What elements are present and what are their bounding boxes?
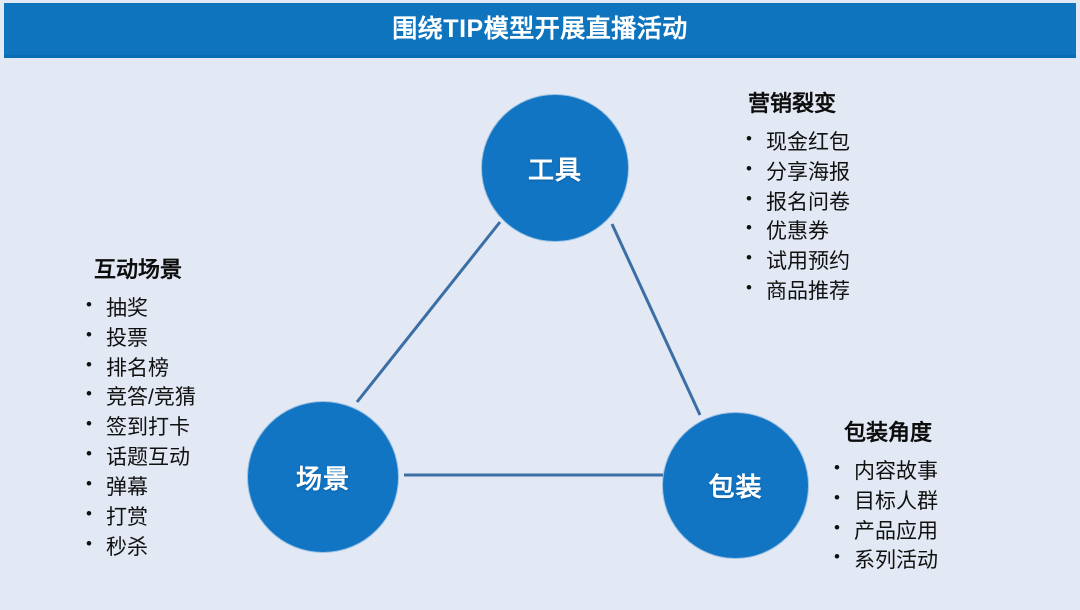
node-package-label: 包装	[708, 467, 762, 504]
list-item: 现金红包	[744, 128, 850, 158]
list-item: 投票	[84, 324, 196, 354]
block-interaction-heading: 互动场景	[84, 252, 196, 284]
slide-canvas: 围绕TIP模型开展直播活动 工具 场景 包装 互动场景 抽奖 投票 排名榜 竞答…	[0, 0, 1080, 610]
block-marketing-list: 现金红包 分享海报 报名问卷 优惠券 试用预约 商品推荐	[744, 128, 850, 307]
block-marketing: 营销裂变 现金红包 分享海报 报名问卷 优惠券 试用预约 商品推荐	[744, 86, 850, 307]
node-package[interactable]: 包装	[663, 413, 808, 558]
block-packaging: 包装角度 内容故事 目标人群 产品应用 系列活动	[832, 415, 938, 576]
list-item: 打赏	[84, 503, 196, 533]
block-interaction: 互动场景 抽奖 投票 排名榜 竞答/竞猜 签到打卡 话题互动 弹幕 打赏 秒杀	[84, 252, 196, 562]
list-item: 系列活动	[832, 546, 938, 576]
list-item: 优惠券	[744, 217, 850, 247]
list-item: 内容故事	[832, 457, 938, 487]
list-item: 目标人群	[832, 487, 938, 517]
list-item: 签到打卡	[84, 413, 196, 443]
block-packaging-heading: 包装角度	[832, 415, 938, 447]
header-bar: 围绕TIP模型开展直播活动	[4, 3, 1076, 58]
list-item: 商品推荐	[744, 277, 850, 307]
block-packaging-list: 内容故事 目标人群 产品应用 系列活动	[832, 457, 938, 576]
list-item: 竞答/竞猜	[84, 383, 196, 413]
block-interaction-list: 抽奖 投票 排名榜 竞答/竞猜 签到打卡 话题互动 弹幕 打赏 秒杀	[84, 294, 196, 562]
list-item: 试用预约	[744, 247, 850, 277]
node-scene-label: 场景	[296, 459, 350, 496]
list-item: 话题互动	[84, 443, 196, 473]
list-item: 产品应用	[832, 517, 938, 547]
list-item: 秒杀	[84, 533, 196, 563]
list-item: 排名榜	[84, 354, 196, 384]
page-title: 围绕TIP模型开展直播活动	[4, 3, 1076, 55]
node-scene[interactable]: 场景	[248, 402, 398, 552]
list-item: 分享海报	[744, 158, 850, 188]
node-tool-label: 工具	[528, 150, 582, 187]
node-tool[interactable]: 工具	[482, 95, 628, 241]
block-marketing-heading: 营销裂变	[744, 86, 850, 118]
list-item: 报名问卷	[744, 188, 850, 218]
list-item: 弹幕	[84, 473, 196, 503]
list-item: 抽奖	[84, 294, 196, 324]
